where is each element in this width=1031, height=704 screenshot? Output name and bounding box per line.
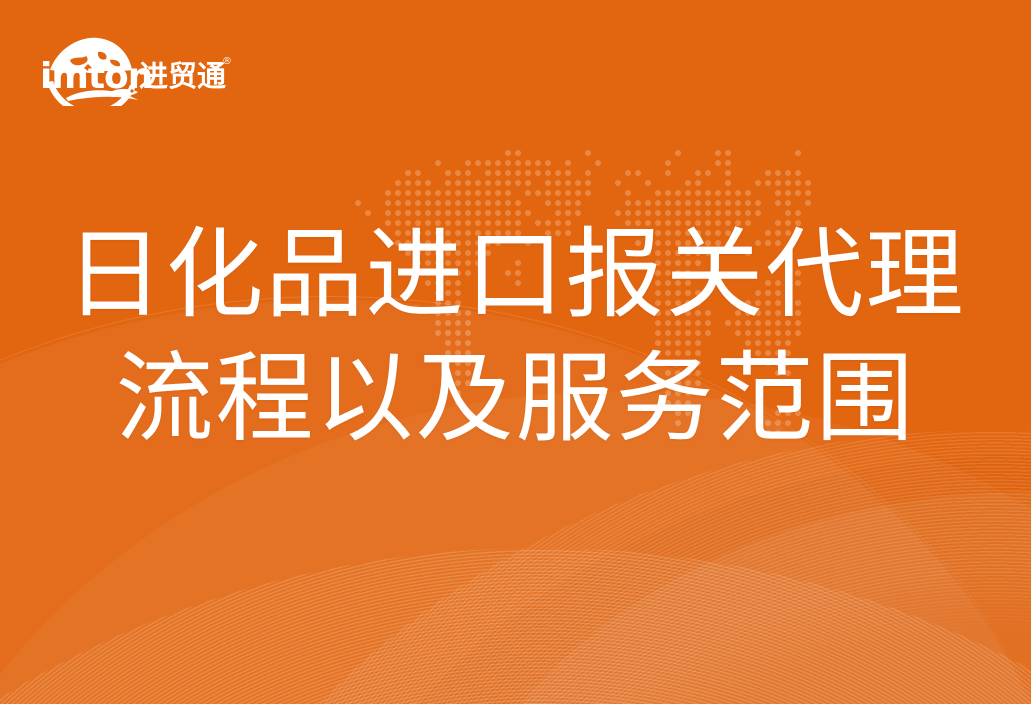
dotmap-dot — [765, 180, 771, 186]
dotmap-dot — [795, 180, 801, 186]
dotmap-dot — [705, 200, 711, 206]
dotmap-dot — [565, 180, 571, 186]
dotmap-dot — [505, 180, 511, 186]
dotmap-dot — [565, 200, 571, 206]
dotmap-dot — [715, 190, 721, 196]
dotmap-dot — [595, 160, 601, 166]
dotmap-dot — [565, 170, 571, 176]
dotmap-dot — [665, 170, 671, 176]
dotmap-dot — [475, 190, 481, 196]
dotmap-dot — [525, 190, 531, 196]
promo-banner: imton 进贸通 ® 日化品进口报关代理 流程以及服务范围 — [0, 0, 1031, 704]
dotmap-dot — [455, 190, 461, 196]
dotmap-dot — [445, 200, 451, 206]
dotmap-dot — [455, 180, 461, 186]
dotmap-dot — [495, 160, 501, 166]
dotmap-dot — [525, 210, 531, 216]
dotmap-dot — [525, 180, 531, 186]
dotmap-dot — [665, 160, 671, 166]
dotmap-dot — [495, 190, 501, 196]
dotmap-dot — [405, 170, 411, 176]
dotmap-dot — [795, 210, 801, 216]
dotmap-dot — [485, 190, 491, 196]
dotmap-dot — [725, 190, 731, 196]
dotmap-dot — [475, 160, 481, 166]
dotmap-row — [255, 190, 815, 200]
dotmap-dot — [465, 170, 471, 176]
dotmap-dot — [385, 200, 391, 206]
dotmap-dot — [695, 210, 701, 216]
dotmap-dot — [635, 170, 641, 176]
dotmap-dot — [445, 190, 451, 196]
dotmap-dot — [415, 180, 421, 186]
dotmap-dot — [525, 170, 531, 176]
dotmap-dot — [515, 150, 521, 156]
dotmap-dot — [455, 210, 461, 216]
dotmap-dot — [395, 200, 401, 206]
page-title: 日化品进口报关代理 流程以及服务范围 — [0, 226, 1031, 448]
dotmap-dot — [515, 180, 521, 186]
dotmap-dot — [715, 150, 721, 156]
dotmap-dot — [795, 190, 801, 196]
dotmap-dot — [615, 180, 621, 186]
dotmap-dot — [485, 170, 491, 176]
dotmap-dot — [415, 190, 421, 196]
dotmap-dot — [395, 180, 401, 186]
dotmap-dot — [725, 170, 731, 176]
dotmap-dot — [555, 180, 561, 186]
dotmap-dot — [705, 170, 711, 176]
title-line-2: 流程以及服务范围 — [0, 350, 1031, 448]
dotmap-dot — [515, 160, 521, 166]
dotmap-dot — [785, 200, 791, 206]
dotmap-dot — [775, 170, 781, 176]
dotmap-row — [255, 200, 815, 210]
dotmap-dot — [545, 200, 551, 206]
dotmap-dot — [685, 190, 691, 196]
dotmap-dot — [665, 190, 671, 196]
dotmap-dot — [615, 210, 621, 216]
dotmap-row — [255, 170, 815, 180]
dotmap-dot — [715, 210, 721, 216]
dotmap-dot — [445, 170, 451, 176]
dotmap-dot — [505, 150, 511, 156]
dotmap-dot — [805, 190, 811, 196]
dotmap-dot — [735, 190, 741, 196]
dotmap-dot — [425, 180, 431, 186]
dotmap-dot — [365, 210, 371, 216]
dotmap-dot — [455, 170, 461, 176]
dotmap-dot — [465, 190, 471, 196]
dotmap-dot — [585, 170, 591, 176]
dotmap-dot — [635, 210, 641, 216]
dotmap-dot — [405, 190, 411, 196]
dotmap-dot — [435, 160, 441, 166]
dotmap-dot — [355, 200, 361, 206]
dotmap-dot — [415, 210, 421, 216]
dotmap-dot — [725, 160, 731, 166]
dotmap-dot — [795, 170, 801, 176]
dotmap-dot — [725, 150, 731, 156]
dotmap-dot — [485, 200, 491, 206]
dotmap-dot — [785, 210, 791, 216]
dotmap-dot — [675, 150, 681, 156]
dotmap-dot — [535, 170, 541, 176]
dotmap-dot — [795, 150, 801, 156]
dotmap-dot — [465, 210, 471, 216]
dotmap-dot — [495, 180, 501, 186]
dotmap-dot — [765, 170, 771, 176]
dotmap-dot — [445, 210, 451, 216]
dotmap-dot — [485, 160, 491, 166]
dotmap-dot — [405, 180, 411, 186]
dotmap-dot — [785, 170, 791, 176]
dotmap-dot — [505, 160, 511, 166]
dotmap-dot — [725, 210, 731, 216]
dotmap-dot — [495, 200, 501, 206]
dotmap-dot — [575, 180, 581, 186]
dotmap-dot — [505, 210, 511, 216]
dotmap-dot — [475, 180, 481, 186]
dotmap-dot — [675, 210, 681, 216]
dotmap-dot — [745, 210, 751, 216]
dotmap-dot — [565, 190, 571, 196]
dotmap-dot — [425, 210, 431, 216]
dotmap-dot — [545, 160, 551, 166]
dotmap-dot — [585, 150, 591, 156]
dotmap-dot — [405, 200, 411, 206]
dotmap-row — [255, 140, 815, 150]
dotmap-dot — [435, 190, 441, 196]
dotmap-dot — [625, 190, 631, 196]
dotmap-dot — [545, 190, 551, 196]
dotmap-dot — [445, 180, 451, 186]
dotmap-dot — [425, 190, 431, 196]
dotmap-dot — [415, 170, 421, 176]
dotmap-dot — [495, 210, 501, 216]
dotmap-dot — [755, 200, 761, 206]
dotmap-dot — [725, 180, 731, 186]
dotmap-row — [255, 180, 815, 190]
dotmap-dot — [745, 200, 751, 206]
dotmap-dot — [735, 210, 741, 216]
dotmap-dot — [685, 210, 691, 216]
dotmap-dot — [625, 170, 631, 176]
dotmap-dot — [785, 180, 791, 186]
trademark-symbol: ® — [222, 56, 232, 67]
dotmap-dot — [715, 200, 721, 206]
dotmap-dot — [415, 200, 421, 206]
dotmap-dot — [625, 210, 631, 216]
dotmap-dot — [495, 170, 501, 176]
dotmap-dot — [475, 210, 481, 216]
dotmap-dot — [475, 200, 481, 206]
dotmap-dot — [645, 180, 651, 186]
dotmap-dot — [585, 180, 591, 186]
dotmap-dot — [745, 190, 751, 196]
logo-wordmark-chinese: 进贸通 — [139, 59, 226, 93]
dotmap-dot — [465, 180, 471, 186]
dotmap-dot — [395, 210, 401, 216]
dotmap-dot — [435, 210, 441, 216]
dotmap-dot — [785, 190, 791, 196]
dotmap-dot — [585, 190, 591, 196]
dotmap-dot — [545, 170, 551, 176]
dotmap-dot — [645, 210, 651, 216]
dotmap-dot — [665, 200, 671, 206]
dotmap-dot — [565, 210, 571, 216]
dotmap-dot — [435, 200, 441, 206]
dotmap-dot — [685, 180, 691, 186]
dotmap-dot — [535, 190, 541, 196]
dotmap-dot — [675, 200, 681, 206]
dotmap-row — [255, 150, 815, 160]
dotmap-dot — [715, 160, 721, 166]
dotmap-dot — [675, 190, 681, 196]
dotmap-dot — [695, 180, 701, 186]
dotmap-dot — [665, 210, 671, 216]
dotmap-dot — [775, 190, 781, 196]
dotmap-dot — [705, 210, 711, 216]
dotmap-dot — [655, 200, 661, 206]
dotmap-dot — [485, 180, 491, 186]
dotmap-dot — [555, 170, 561, 176]
dotmap-dot — [395, 190, 401, 196]
dotmap-dot — [775, 180, 781, 186]
dotmap-dot — [525, 160, 531, 166]
dotmap-dot — [405, 210, 411, 216]
dotmap-dot — [505, 190, 511, 196]
dotmap-dot — [755, 180, 761, 186]
dotmap-dot — [515, 200, 521, 206]
dotmap-dot — [515, 210, 521, 216]
dotmap-dot — [755, 210, 761, 216]
dotmap-dot — [465, 160, 471, 166]
dotmap-dot — [685, 200, 691, 206]
dotmap-dot — [655, 210, 661, 216]
dotmap-dot — [655, 190, 661, 196]
dotmap-dot — [735, 200, 741, 206]
dotmap-dot — [645, 200, 651, 206]
logo-wordmark-latin: imton — [40, 56, 152, 97]
dotmap-dot — [805, 200, 811, 206]
dotmap-dot — [695, 200, 701, 206]
dotmap-dot — [505, 200, 511, 206]
dotmap-dot — [535, 160, 541, 166]
dotmap-dot — [465, 200, 471, 206]
dotmap-dot — [385, 210, 391, 216]
dotmap-dot — [455, 200, 461, 206]
dotmap-dot — [505, 170, 511, 176]
dotmap-dot — [575, 190, 581, 196]
dotmap-dot — [555, 200, 561, 206]
title-line-1: 日化品进口报关代理 — [0, 226, 1031, 324]
dotmap-dot — [695, 170, 701, 176]
dotmap-dot — [775, 200, 781, 206]
dotmap-dot — [385, 190, 391, 196]
dotmap-dot — [635, 200, 641, 206]
dotmap-dot — [555, 190, 561, 196]
dotmap-dot — [725, 200, 731, 206]
dotmap-dot — [565, 160, 571, 166]
dotmap-dot — [625, 200, 631, 206]
dotmap-dot — [425, 200, 431, 206]
company-logo[interactable]: imton 进贸通 ® — [36, 26, 236, 106]
dotmap-dot — [545, 180, 551, 186]
dotmap-row — [255, 160, 815, 170]
dotmap-dot — [555, 210, 561, 216]
dotmap-dot — [805, 180, 811, 186]
dotmap-dot — [515, 170, 521, 176]
dotmap-dot — [575, 210, 581, 216]
dotmap-dot — [705, 190, 711, 196]
dotmap-dot — [575, 200, 581, 206]
dotmap-dot — [695, 190, 701, 196]
dotmap-dot — [485, 210, 491, 216]
